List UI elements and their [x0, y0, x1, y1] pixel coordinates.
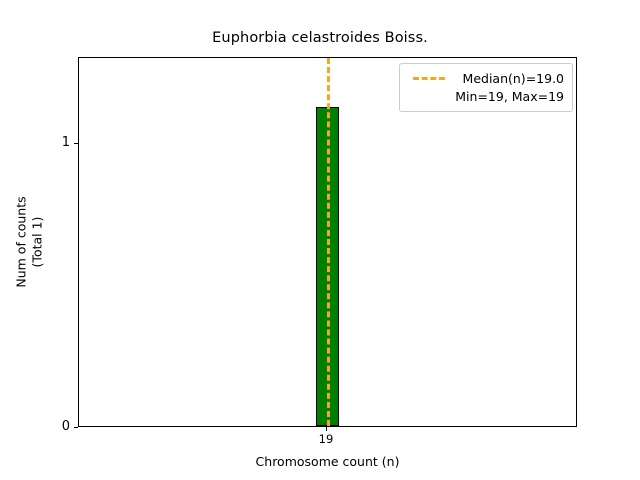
legend-label-median: Median(n)=19.0 [450, 71, 564, 86]
y-axis-label-line2: (Total 1) [29, 196, 45, 287]
legend-row-minmax: Min=19, Max=19 [408, 89, 564, 104]
y-tick-label-0: 0 [42, 419, 70, 434]
y-axis-label-line1: Num of counts [13, 196, 29, 287]
legend: Median(n)=19.0 Min=19, Max=19 [399, 63, 573, 112]
y-tick-mark-0 [74, 427, 78, 428]
legend-swatch-cell [408, 77, 450, 80]
x-tick-mark-19 [326, 427, 327, 431]
plot-inner [79, 58, 576, 426]
legend-row-median: Median(n)=19.0 [408, 71, 564, 86]
bar-19 [316, 107, 339, 426]
legend-label-minmax: Min=19, Max=19 [408, 89, 564, 104]
plot-area: Median(n)=19.0 Min=19, Max=19 [78, 57, 577, 427]
dashed-line-icon [413, 77, 445, 80]
y-tick-label-1: 1 [42, 135, 70, 150]
y-axis-label: Num of counts (Total 1) [14, 57, 44, 427]
chart-figure: Euphorbia celastroides Boiss. Num of cou… [0, 0, 640, 480]
x-tick-label-19: 19 [296, 432, 356, 446]
page-title: Euphorbia celastroides Boiss. [0, 30, 640, 46]
x-axis-label: Chromosome count (n) [78, 454, 577, 469]
